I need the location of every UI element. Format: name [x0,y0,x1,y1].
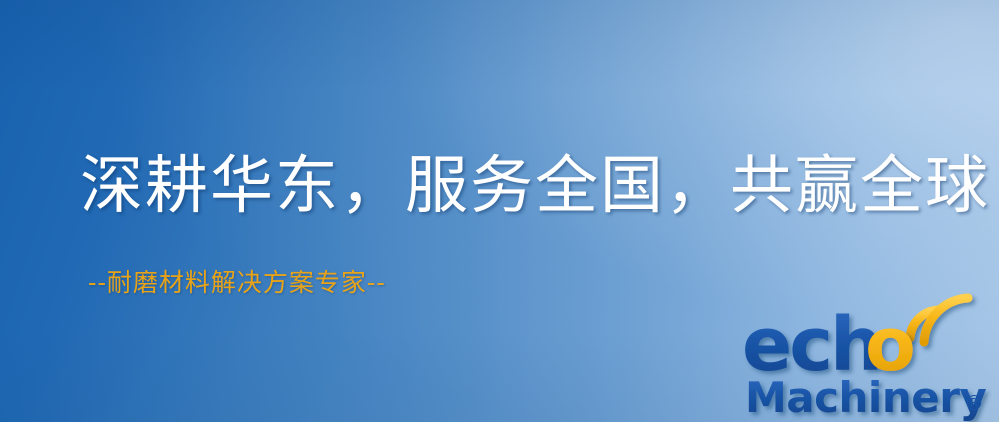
registered-trademark-icon: ® [964,391,984,415]
banner-headline: 深耕华东，服务全国，共赢全球 [80,152,990,220]
banner-subtitle: --耐磨材料解决方案专家-- [88,268,386,298]
hero-banner: 深耕华东，服务全国，共赢全球 --耐磨材料解决方案专家-- [0,0,999,422]
signal-waves-icon [910,298,968,342]
echo-machinery-logo[interactable]: ech o Machinery ® [742,292,994,422]
logo-subword-machinery: Machinery [745,373,986,422]
